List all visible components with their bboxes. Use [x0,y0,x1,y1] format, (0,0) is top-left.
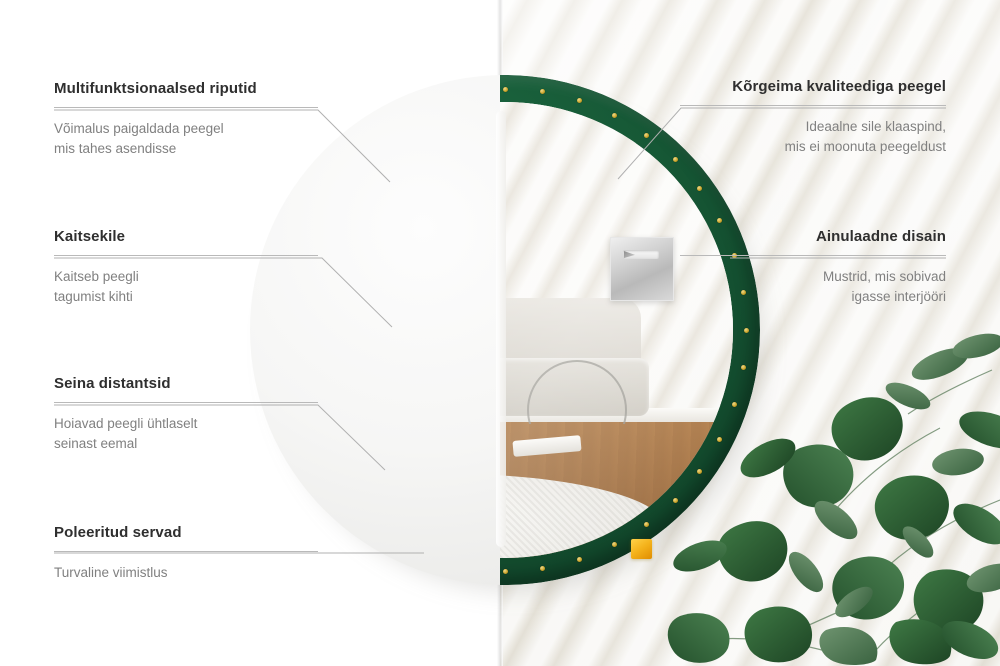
callout-seina-distantsid: Seina distantsid Hoiavad peegli ühtlasel… [54,375,318,453]
callout-multifunktsionaalsed-riputid: Multifunktsionaalsed riputid Võimalus pa… [54,80,318,158]
infographic-canvas: Multifunktsionaalsed riputid Võimalus pa… [0,0,1000,666]
hanger-keyhole-slot [623,250,659,259]
callout-title: Seina distantsid [54,375,318,393]
mirror-side-edge [496,111,506,547]
callout-rule [54,255,318,256]
callout-title: Kõrgeima kvaliteediga peegel [680,78,946,96]
callout-title: Kaitsekile [54,228,318,246]
callout-poleeritud-servad: Poleeritud servad Turvaline viimistlus [54,524,318,583]
callout-line-1: Ideaalne sile klaaspind, [680,117,946,137]
callout-line-2: mis tahes asendisse [54,139,318,159]
callout-rule [54,107,318,108]
callout-rule [680,105,946,106]
callout-line-1: Hoiavad peegli ühtlaselt [54,414,318,434]
frame-stud [741,365,746,370]
wall-spacer-block [631,539,652,559]
callout-title: Ainulaadne disain [680,228,946,246]
frame-stud [744,328,749,333]
frame-stud [732,402,737,407]
frame-stud [503,87,508,92]
callout-line-2: tagumist kihti [54,287,318,307]
callout-kaitsekile: Kaitsekile Kaitseb peegli tagumist kihti [54,228,318,306]
callout-rule [54,551,318,552]
frame-stud [644,133,649,138]
callout-rule [54,402,318,403]
callout-line-2: igasse interjööri [680,287,946,307]
frame-stud [577,557,582,562]
frame-stud [540,566,545,571]
callout-line-1: Mustrid, mis sobivad [680,267,946,287]
callout-ainulaadne-disain: Ainulaadne disain Mustrid, mis sobivad i… [680,228,946,306]
frame-stud [673,157,678,162]
callout-title: Poleeritud servad [54,524,318,542]
callout-line-1: Võimalus paigaldada peegel [54,119,318,139]
wall-hanger-plate [610,237,674,301]
callout-line-1: Turvaline viimistlus [54,563,318,583]
frame-stud [612,113,617,118]
callout-title: Multifunktsionaalsed riputid [54,80,318,98]
frame-stud [673,498,678,503]
callout-rule [680,255,946,256]
callout-line-2: mis ei moonuta peegeldust [680,137,946,157]
callout-line-1: Kaitseb peegli [54,267,318,287]
frame-stud [503,569,508,574]
callout-line-2: seinast eemal [54,434,318,454]
callout-korgeima-kvaliteediga-peegel: Kõrgeima kvaliteediga peegel Ideaalne si… [680,78,946,156]
